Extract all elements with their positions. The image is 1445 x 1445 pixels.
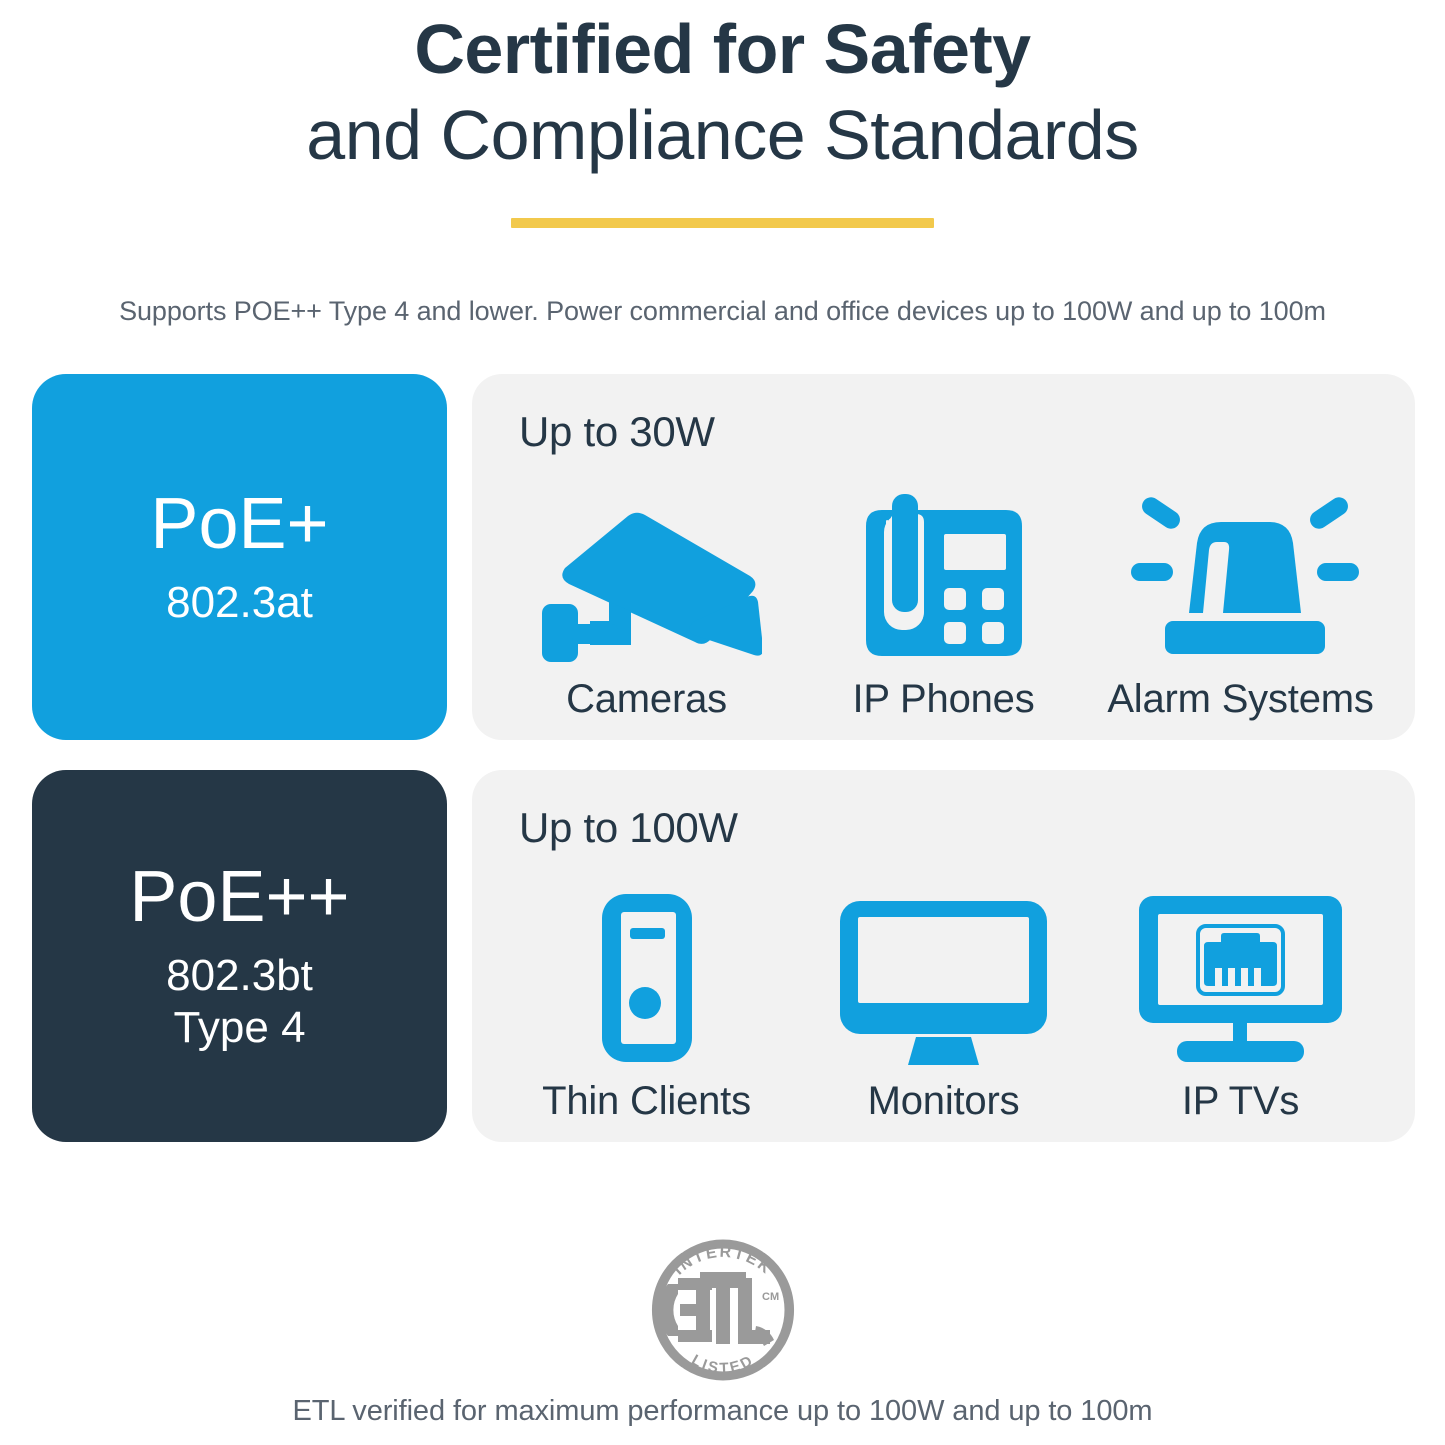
- device-label: Monitors: [868, 1079, 1020, 1124]
- poe-plusplus-device-list: Thin Clients: [472, 852, 1415, 1124]
- device-ip-tvs: IP TVs: [1092, 885, 1389, 1124]
- title-accent-rule: [511, 218, 934, 228]
- poe-plusplus-device-panel: Up to 100W: [472, 770, 1415, 1142]
- poe-plusplus-badge: PoE++ 802.3bt Type 4: [32, 770, 447, 1142]
- subtitle-text: Supports POE++ Type 4 and lower. Power c…: [0, 296, 1445, 327]
- poe-plus-device-panel: Up to 30W: [472, 374, 1415, 740]
- device-label: IP TVs: [1182, 1079, 1299, 1124]
- monitor-icon: [836, 885, 1051, 1065]
- page-header: Certified for Safety and Compliance Stan…: [0, 0, 1445, 228]
- device-label: IP Phones: [852, 677, 1034, 722]
- poe-plus-row: PoE+ 802.3at Up to 30W: [32, 374, 1415, 740]
- etl-intertek-listed-logo: INTERTEK LISTED CM: [638, 1222, 808, 1395]
- thin-client-tower-icon: [592, 885, 702, 1065]
- device-label: Thin Clients: [542, 1079, 751, 1124]
- device-ip-phones: IP Phones: [795, 473, 1092, 722]
- device-monitors: Monitors: [795, 885, 1092, 1124]
- poe-plusplus-badge-standard: 802.3bt: [166, 950, 313, 1002]
- poe-plusplus-power-heading: Up to 100W: [519, 804, 738, 852]
- etl-footnote-text: ETL verified for maximum performance up …: [0, 1395, 1445, 1428]
- poe-plus-badge-title: PoE+: [150, 485, 328, 563]
- page-title-line-1: Certified for Safety: [0, 0, 1445, 92]
- poe-plus-badge: PoE+ 802.3at: [32, 374, 447, 740]
- page-title-line-2: and Compliance Standards: [0, 92, 1445, 178]
- etl-cm-mark: CM: [762, 1291, 779, 1303]
- device-cameras: Cameras: [498, 473, 795, 722]
- poe-plusplus-badge-type: Type 4: [173, 1002, 305, 1054]
- device-thin-clients: Thin Clients: [498, 885, 795, 1124]
- device-label: Cameras: [566, 677, 727, 722]
- ip-phone-icon: [854, 473, 1034, 663]
- device-alarm-systems: Alarm Systems: [1092, 473, 1389, 722]
- poe-plus-device-list: Cameras: [472, 456, 1415, 722]
- infographic-page: Certified for Safety and Compliance Stan…: [0, 0, 1445, 1445]
- poe-plus-badge-standard: 802.3at: [166, 577, 313, 629]
- ip-tv-icon: [1133, 885, 1348, 1065]
- alarm-siren-icon: [1121, 473, 1361, 663]
- poe-plus-power-heading: Up to 30W: [519, 408, 715, 456]
- poe-plusplus-badge-title: PoE++: [129, 858, 349, 936]
- poe-plusplus-row: PoE++ 802.3bt Type 4 Up to 100W: [32, 770, 1415, 1142]
- security-camera-icon: [532, 473, 762, 663]
- device-label: Alarm Systems: [1107, 677, 1373, 722]
